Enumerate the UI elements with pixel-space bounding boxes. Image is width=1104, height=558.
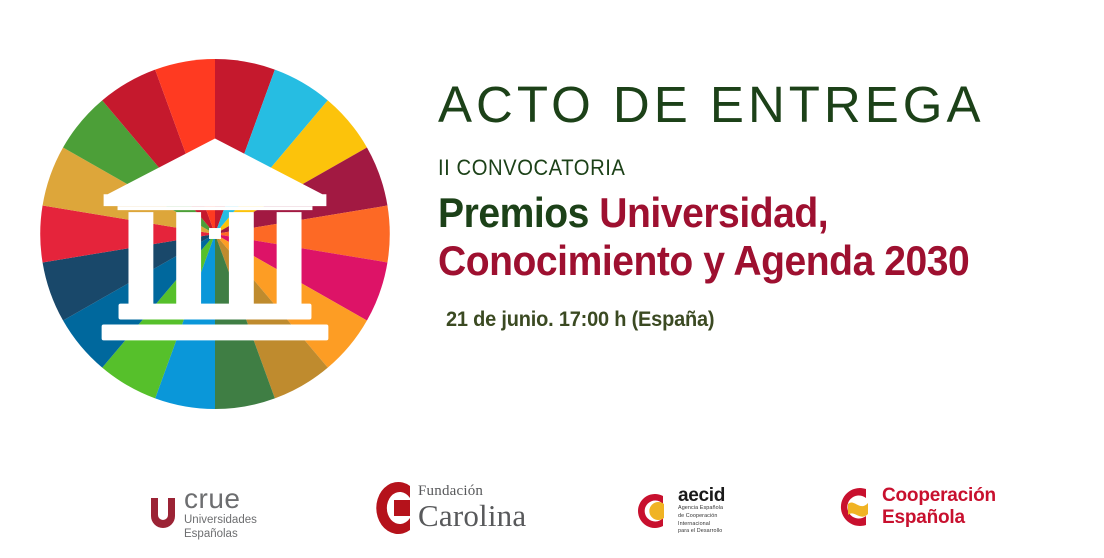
page-title: ACTO DE ENTREGA [438, 78, 1078, 132]
crue-shield-icon [150, 497, 176, 531]
crue-wordmark: crue [184, 486, 257, 513]
convocatoria-subtitle: II CONVOCATORIA [438, 156, 1027, 180]
aecid-subline-3: Internacional [678, 521, 725, 529]
crue-subline-2: Españolas [184, 527, 257, 541]
logo-fundacion-carolina: Fundación Carolina [370, 480, 526, 536]
event-poster: ACTO DE ENTREGA II CONVOCATORIA Premios … [0, 0, 1104, 558]
logo-aecid: aecid Agencia Española de Cooperación In… [630, 486, 725, 536]
sponsor-logos-row: crue Universidades Españolas Fundación C… [0, 476, 1104, 548]
carolina-c-icon [370, 480, 410, 536]
aecid-c-icon [630, 491, 670, 531]
event-date: 21 de junio. 17:00 h (España) [446, 308, 1046, 332]
aecid-text: aecid Agencia Española de Cooperación In… [678, 486, 725, 536]
cooperacion-text: Cooperación Española [882, 485, 996, 530]
aecid-wordmark: aecid [678, 486, 725, 505]
aecid-subline-4: para el Desarrollo [678, 528, 725, 536]
awards-title-line-1: Premios Universidad, [438, 189, 1033, 238]
carolina-wordmark: Carolina [418, 500, 526, 533]
awards-title: Premios Universidad, Conocimiento y Agen… [438, 189, 1078, 286]
aecid-subline-1: Agencia Española [678, 505, 725, 513]
crue-subline-1: Universidades [184, 513, 257, 527]
crue-text: crue Universidades Españolas [184, 486, 257, 541]
cooperacion-line-2: Española [882, 507, 996, 529]
aecid-subline-2: de Cooperación [678, 513, 725, 521]
sdg-wheel-svg [36, 55, 394, 413]
cooperacion-c-icon [830, 484, 874, 530]
cooperacion-line-1: Cooperación [882, 485, 996, 507]
carolina-text: Fundación Carolina [418, 483, 526, 532]
awards-title-premios-word: Premios [438, 189, 599, 236]
poster-text-block: ACTO DE ENTREGA II CONVOCATORIA Premios … [438, 78, 1078, 332]
awards-title-line-2: Conocimiento y Agenda 2030 [438, 237, 1033, 286]
logo-crue: crue Universidades Españolas [150, 486, 257, 541]
sdg-wheel-emblem [36, 55, 394, 413]
awards-title-universidad-word: Universidad, [599, 189, 828, 236]
logo-cooperacion-espanola: Cooperación Española [830, 484, 996, 530]
